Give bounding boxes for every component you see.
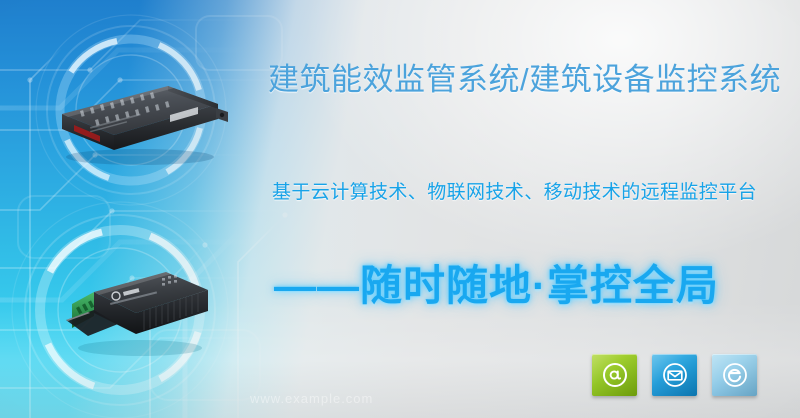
at-sign-icon-button[interactable] — [592, 354, 637, 396]
at-sign-icon — [602, 362, 628, 388]
envelope-icon — [662, 362, 688, 388]
watermark-text: www.example.com — [250, 391, 373, 406]
contact-icon-row — [592, 354, 757, 396]
envelope-icon-button[interactable] — [652, 354, 697, 396]
device-image-serial-server — [48, 78, 228, 166]
browser-e-icon — [722, 362, 748, 388]
browser-e-icon-button[interactable] — [712, 354, 757, 396]
promo-banner: 建筑能效监管系统/建筑设备监控系统 基于云计算技术、物联网技术、移动技术的远程监… — [0, 0, 800, 418]
device-image-acquisition-controller — [58, 258, 218, 358]
